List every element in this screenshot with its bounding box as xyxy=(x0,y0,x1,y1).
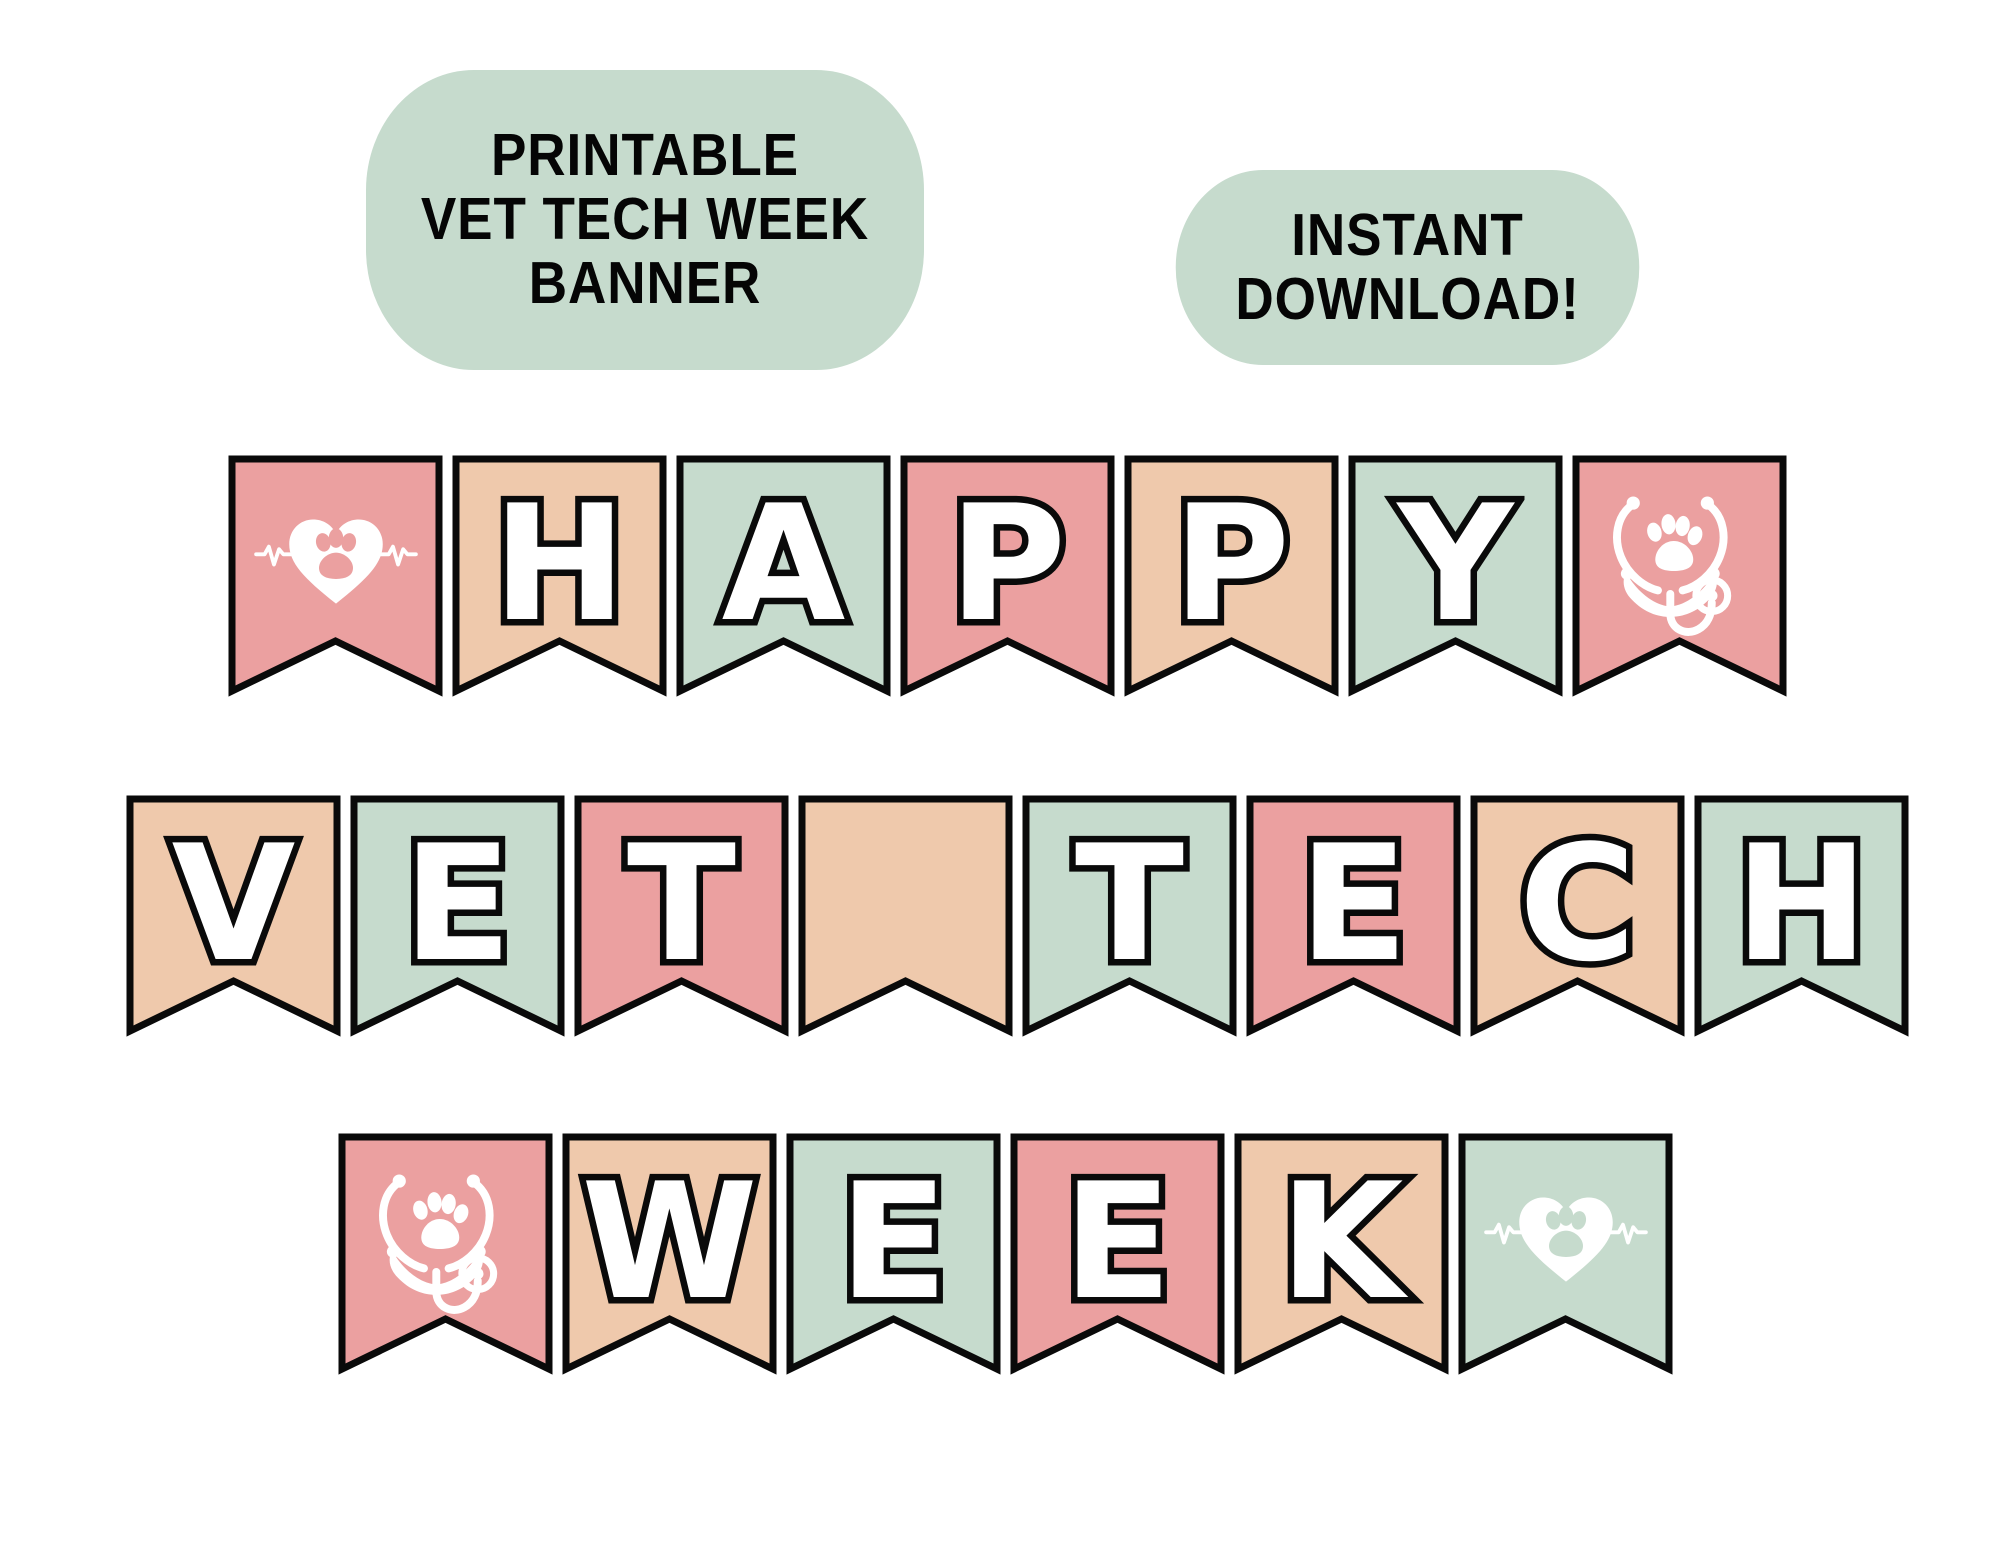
pennant-shape xyxy=(350,795,565,1035)
pennant-shape xyxy=(676,455,891,695)
pennant-shape xyxy=(1010,1133,1225,1373)
pennant-shape xyxy=(1124,455,1339,695)
pennant-shape xyxy=(798,795,1013,1035)
pennant-letter-e: E xyxy=(350,795,565,1035)
pennant-heart-paw-heartbeat xyxy=(228,455,443,695)
pennant-letter-e: E xyxy=(1246,795,1461,1035)
badge-row: PRINTABLE VET TECH WEEK BANNER INSTANT D… xyxy=(0,60,2000,320)
pennant-letter-w: W xyxy=(562,1133,777,1373)
pennant-shape xyxy=(562,1133,777,1373)
pennant-letter-e: E xyxy=(1010,1133,1225,1373)
pennant-shape xyxy=(228,455,443,695)
pennant-letter-h: H xyxy=(452,455,667,695)
badge-printable-line-2: VET TECH WEEK xyxy=(421,188,869,252)
badge-instant-line-2: DOWNLOAD! xyxy=(1235,268,1579,332)
pennant-shape xyxy=(1348,455,1563,695)
pennant-letter-c: C xyxy=(1470,795,1685,1035)
pennant-shape xyxy=(1572,455,1787,695)
pennant-shape xyxy=(900,455,1115,695)
pennant-stethoscope-paw xyxy=(338,1133,553,1373)
pennant-heart-paw-heartbeat xyxy=(1458,1133,1673,1373)
pennant-shape xyxy=(786,1133,1001,1373)
pennant-letter-h: H xyxy=(1694,795,1909,1035)
banner-row-vet-tech: V E T T xyxy=(126,795,1909,1035)
pennant-letter-t: T xyxy=(1022,795,1237,1035)
badge-printable-line-1: PRINTABLE xyxy=(421,124,869,188)
pennant-letter-a: A xyxy=(676,455,891,695)
pennant-shape xyxy=(338,1133,553,1373)
pennant-letter-v: V xyxy=(126,795,341,1035)
pennant-shape xyxy=(574,795,789,1035)
pennant-stethoscope-paw xyxy=(1572,455,1787,695)
pennant-shape xyxy=(126,795,341,1035)
pennant-shape xyxy=(1458,1133,1673,1373)
pennant-shape xyxy=(1694,795,1909,1035)
pennant-letter-e: E xyxy=(786,1133,1001,1373)
pennant-shape xyxy=(452,455,667,695)
pennant-shape xyxy=(1470,795,1685,1035)
pennant-letter-p: P xyxy=(900,455,1115,695)
pennant-letter-y: Y xyxy=(1348,455,1563,695)
pennant-shape xyxy=(1246,795,1461,1035)
pennant-shape xyxy=(1022,795,1237,1035)
banner-row-happy: H A P P Y xyxy=(228,455,1787,695)
pennant-blank xyxy=(798,795,1013,1035)
badge-printable-line-3: BANNER xyxy=(421,252,869,316)
pennant-shape xyxy=(1234,1133,1449,1373)
pennant-letter-p: P xyxy=(1124,455,1339,695)
pennant-letter-t: T xyxy=(574,795,789,1035)
badge-instant-download: INSTANT DOWNLOAD! xyxy=(1176,170,1640,365)
pennant-letter-k: K xyxy=(1234,1133,1449,1373)
badge-instant-line-1: INSTANT xyxy=(1235,204,1579,268)
badge-printable: PRINTABLE VET TECH WEEK BANNER xyxy=(366,70,924,370)
banner-row-week: W E E K xyxy=(338,1133,1673,1373)
